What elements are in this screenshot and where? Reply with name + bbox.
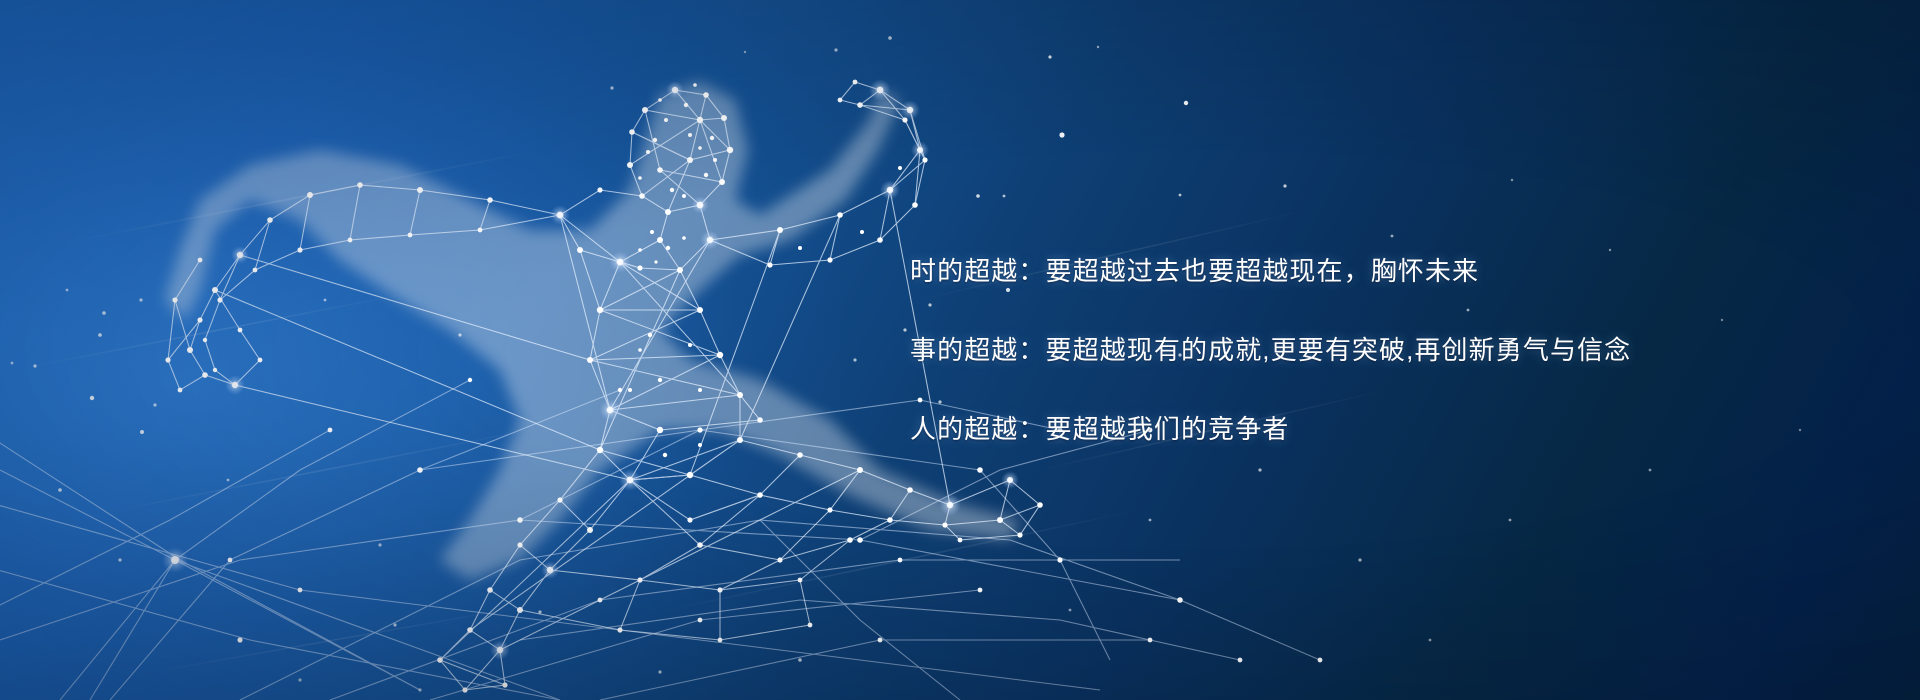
hero-banner: 时的超越：要超越过去也要超越现在，胸怀未来 事的超越：要超越现有的成就,更要有突…	[0, 0, 1920, 700]
slogan-line-1: 时的超越：要超越过去也要超越现在，胸怀未来	[910, 232, 1810, 311]
slogan-line-3: 人的超越：要超越我们的竞争者	[910, 390, 1810, 469]
slogan-line-2: 事的超越：要超越现有的成就,更要有突破,再创新勇气与信念	[910, 311, 1810, 390]
figure-glow	[165, 82, 1020, 580]
slogan-text-block: 时的超越：要超越过去也要超越现在，胸怀未来 事的超越：要超越现有的成就,更要有突…	[910, 232, 1810, 469]
